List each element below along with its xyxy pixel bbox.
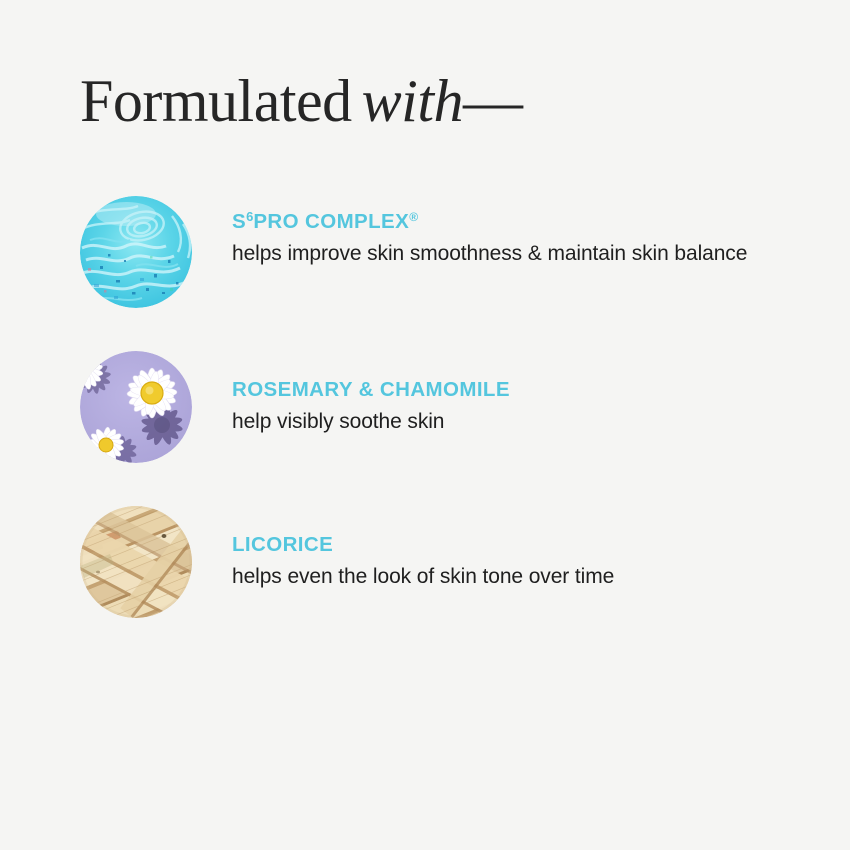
licorice-root-icon [80, 506, 192, 618]
blue-gel-swirl-icon [80, 196, 192, 308]
ingredient-copy: LICORICE helps even the look of skin ton… [232, 532, 777, 592]
ingredient-description: helps even the look of skin tone over ti… [232, 562, 777, 592]
ingredient-name-rest: PRO COMPLEX [253, 210, 409, 233]
ingredient-copy: S6PRO COMPLEX® helps improve skin smooth… [232, 204, 777, 269]
chamomile-daisy-icon [80, 351, 192, 463]
page-title-roman: Formulated [80, 68, 352, 134]
ingredient-thumbnail-blue-gel [80, 196, 192, 308]
ingredient-thumbnail-licorice [80, 506, 192, 618]
page-title-text: Formulatedwith— [80, 68, 780, 134]
ingredient-description: help visibly soothe skin [232, 407, 777, 437]
ingredient-name-prefix: ROSEMARY & CHAMOMILE [232, 378, 510, 401]
page-title: Formulatedwith— [80, 68, 780, 138]
ingredient-copy: ROSEMARY & CHAMOMILE help visibly soothe… [232, 377, 777, 437]
registered-trademark-icon: ® [409, 210, 418, 224]
page-title-italic: with [362, 68, 463, 134]
ingredient-thumbnail-chamomile [80, 351, 192, 463]
ingredient-name: S6PRO COMPLEX® [232, 204, 777, 235]
ingredient-name: ROSEMARY & CHAMOMILE [232, 377, 777, 403]
ingredient-name: LICORICE [232, 532, 777, 558]
page-title-dash: — [463, 68, 522, 134]
ingredient-description: helps improve skin smoothness & maintain… [232, 239, 777, 269]
ingredient-name-prefix: S [232, 210, 246, 233]
ingredient-row: LICORICE helps even the look of skin ton… [80, 506, 780, 618]
ingredient-row: ROSEMARY & CHAMOMILE help visibly soothe… [80, 351, 780, 463]
formulated-with-panel: Formulatedwith— [0, 0, 850, 850]
ingredient-row: S6PRO COMPLEX® helps improve skin smooth… [80, 196, 780, 308]
ingredient-name-prefix: LICORICE [232, 533, 333, 556]
